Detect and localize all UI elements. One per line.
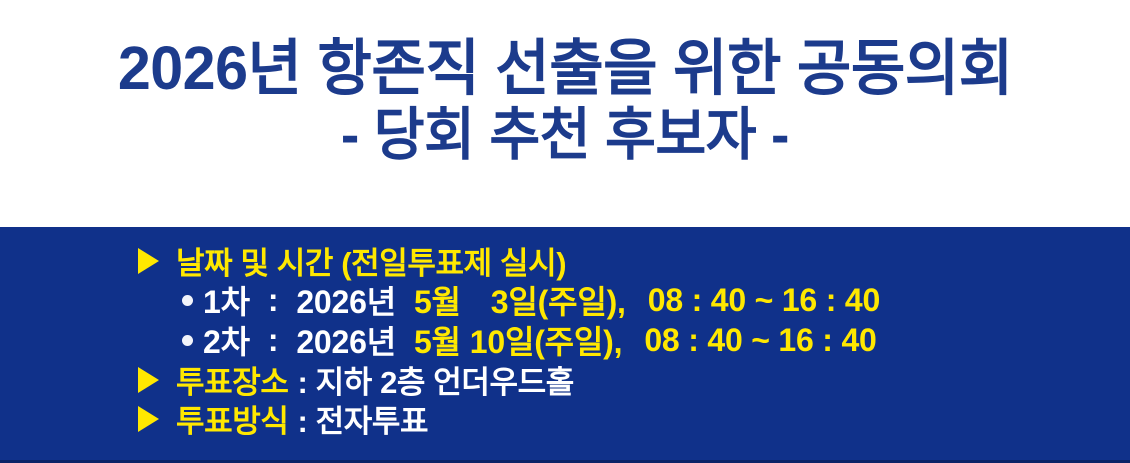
info-row-datetime: 날짜 및 시간 (전일투표제 실시): [138, 241, 1130, 280]
info-rows: 날짜 및 시간 (전일투표제 실시) 1차 : 2026년 5월 3일(주일),…: [138, 241, 1130, 438]
info-row-place: 투표장소 : 지하 2층 언더우드홀: [138, 360, 1130, 399]
info-row-session-2: 2차 : 2026년 5월 10일(주일), 08 : 40 ~ 16 : 40: [182, 320, 1130, 360]
session-1-separator: :: [268, 282, 278, 319]
triangle-right-icon: [138, 248, 159, 274]
method-label: 투표방식: [176, 396, 288, 441]
bullet-dot-icon: [182, 335, 193, 346]
info-band: 날짜 및 시간 (전일투표제 실시) 1차 : 2026년 5월 3일(주일),…: [0, 227, 1130, 463]
triangle-right-icon: [138, 406, 159, 432]
session-2-time: 08 : 40 ~ 16 : 40: [644, 322, 876, 359]
method-value: : 전자투표: [297, 396, 428, 441]
bullet-dot-icon: [182, 295, 193, 306]
page-title-line-1: 2026년 항존직 선출을 위한 공동의회: [118, 36, 1013, 101]
triangle-right-icon: [138, 367, 159, 393]
info-row-session-1: 1차 : 2026년 5월 3일(주일), 08 : 40 ~ 16 : 40: [182, 280, 1130, 320]
session-2-separator: :: [268, 322, 278, 359]
page-title-line-2: - 당회 추천 후보자 -: [341, 105, 789, 165]
info-row-method: 투표방식 : 전자투표: [138, 399, 1130, 438]
session-1-time: 08 : 40 ~ 16 : 40: [648, 282, 880, 319]
poster-root: 2026년 항존직 선출을 위한 공동의회 - 당회 추천 후보자 - 날짜 및…: [0, 0, 1130, 463]
title-block: 2026년 항존직 선출을 위한 공동의회 - 당회 추천 후보자 -: [0, 0, 1130, 227]
